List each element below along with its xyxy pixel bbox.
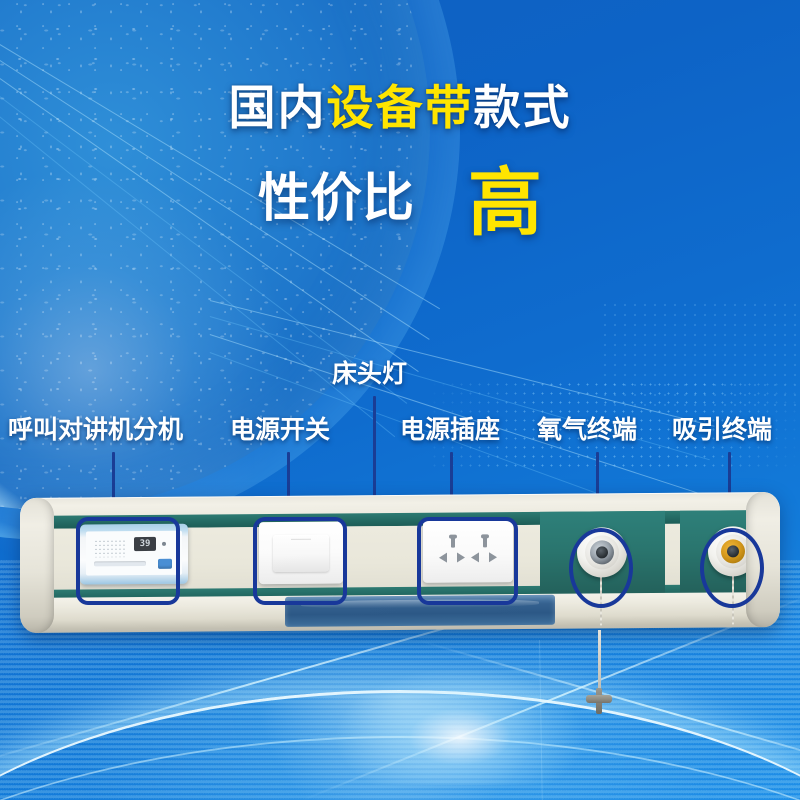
product-banner: 国内设备带款式 性价比高 呼叫对讲机分机 电源开关 床头灯 电源插座 氧气终端 …	[0, 0, 800, 800]
cord-connector-icon	[586, 688, 612, 714]
subtitle-highlight: 高	[468, 161, 542, 244]
highlight-box-power-switch	[253, 517, 347, 605]
title-part-3: 款式	[474, 81, 572, 134]
panel-end-cap-left	[20, 498, 54, 633]
highlight-circle-suction	[700, 528, 764, 608]
glow-burst-graphic	[330, 665, 590, 785]
subtitle-text: 性价比	[258, 170, 414, 228]
page-title: 国内设备带款式	[0, 84, 800, 131]
callout-label-power-switch: 电源开关	[230, 418, 330, 443]
callout-label-bed-lamp: 床头灯	[332, 362, 407, 387]
callout-label-intercom: 呼叫对讲机分机	[8, 418, 183, 443]
highlight-box-power-socket	[417, 517, 518, 605]
callout-label-power-socket: 电源插座	[400, 418, 500, 443]
hanging-cord	[598, 630, 601, 696]
connector-cross	[586, 695, 612, 703]
callout-label-oxygen: 氧气终端	[537, 418, 637, 443]
highlight-box-intercom	[76, 517, 180, 605]
title-part-highlight: 设备带	[327, 81, 474, 134]
callout-label-suction: 吸引终端	[672, 418, 772, 443]
title-part-1: 国内	[229, 81, 327, 134]
page-subtitle: 性价比高	[0, 166, 800, 240]
highlight-circle-oxygen	[569, 528, 633, 608]
